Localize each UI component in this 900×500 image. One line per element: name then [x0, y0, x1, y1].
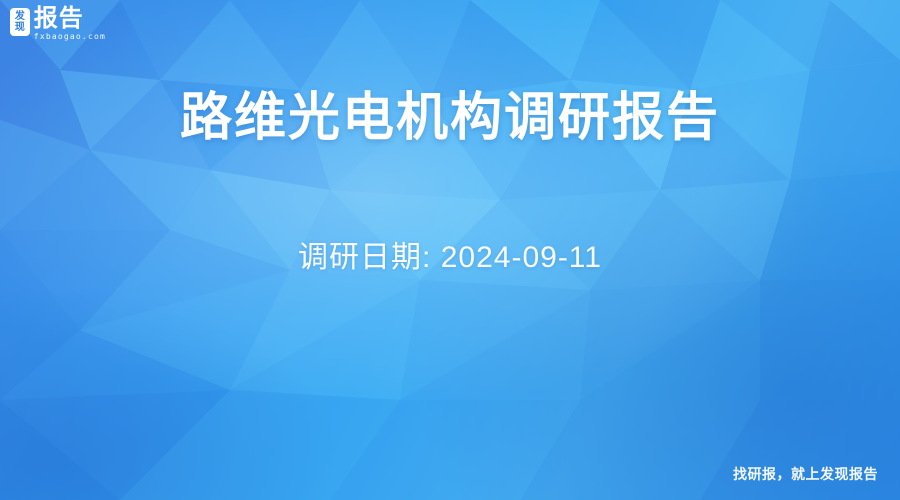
logo-mark-icon: 发 现	[10, 8, 30, 36]
logo-mark-line1: 发	[15, 11, 25, 22]
logo-title: 报告	[34, 6, 106, 32]
survey-date-subtitle: 调研日期: 2024-09-11	[0, 232, 900, 276]
logo-domain: fxbaogao.com	[34, 32, 106, 42]
page-title: 路维光电机构调研报告	[0, 86, 900, 150]
footer-slogan: 找研报，就上发现报告	[733, 464, 878, 484]
logo-mark-line2: 现	[15, 22, 25, 33]
brand-logo: 发 现 报告 fxbaogao.com	[10, 6, 106, 52]
title-block: 路维光电机构调研报告	[0, 86, 900, 150]
title-slide: 发 现 报告 fxbaogao.com 路维光电机构调研报告 调研日期: 202…	[0, 0, 900, 500]
logo-text: 报告 fxbaogao.com	[34, 6, 106, 42]
